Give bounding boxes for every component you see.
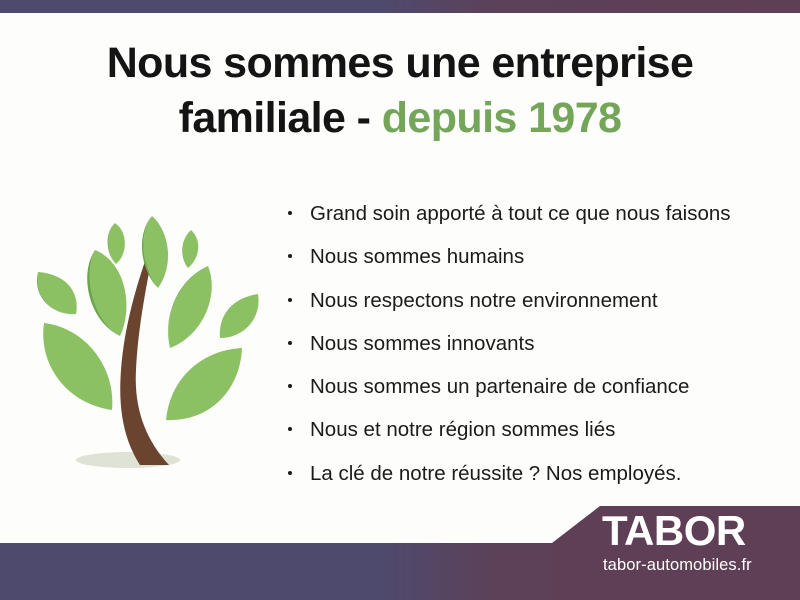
leaf-far-left <box>37 272 77 314</box>
heading-line-1: Nous sommes une entreprise <box>0 36 800 91</box>
bullet-dot-icon <box>288 384 292 388</box>
leaf-upper-left-small <box>108 223 125 264</box>
list-item: La clé de notre réussite ? Nos employés. <box>286 452 786 495</box>
list-item: Nous sommes humains <box>286 235 786 278</box>
slide-canvas: Nous sommes une entreprise familiale - d… <box>0 0 800 600</box>
bullet-dot-icon <box>288 471 292 475</box>
bullet-dot-icon <box>288 211 292 215</box>
list-item: Nous et notre région sommes liés <box>286 408 786 451</box>
bullet-dot-icon <box>288 341 292 345</box>
leaf-far-right <box>220 294 259 338</box>
slide-heading: Nous sommes une entreprise familiale - d… <box>0 36 800 146</box>
list-item: Grand soin apporté à tout ce que nous fa… <box>286 192 786 235</box>
value-bullet-list: Grand soin apporté à tout ce que nous fa… <box>286 192 786 495</box>
list-item-label: La clé de notre réussite ? Nos employés. <box>310 462 681 485</box>
list-item-label: Nous sommes innovants <box>310 332 534 355</box>
heading-line-2-accent: depuis 1978 <box>382 94 622 142</box>
list-item-label: Nous et notre région sommes liés <box>310 418 615 441</box>
list-item: Nous sommes un partenaire de confiance <box>286 365 786 408</box>
leaf-right-mid <box>168 266 212 348</box>
list-item: Nous sommes innovants <box>286 322 786 365</box>
bullet-dot-icon <box>288 298 292 302</box>
leaf-left-mid <box>87 250 126 336</box>
top-accent-band <box>0 0 800 13</box>
tree-trunk <box>120 250 169 465</box>
brand-logo-plaque: TABOR tabor-automobiles.fr <box>552 506 800 600</box>
heading-line-2: familiale - depuis 1978 <box>0 91 800 146</box>
bullet-dot-icon <box>288 254 292 258</box>
list-item-label: Grand soin apporté à tout ce que nous fa… <box>310 202 731 225</box>
leaf-upper-right-small <box>182 230 198 268</box>
tree-illustration <box>24 188 274 478</box>
list-item-label: Nous sommes un partenaire de confiance <box>310 375 689 398</box>
brand-website-url: tabor-automobiles.fr <box>603 556 752 575</box>
leaf-lower-right <box>166 348 242 420</box>
brand-wordmark: TABOR <box>602 510 746 552</box>
list-item-label: Nous sommes humains <box>310 245 524 268</box>
list-item-label: Nous respectons notre environnement <box>310 289 658 312</box>
leaf-lower-left <box>43 323 112 410</box>
bullet-dot-icon <box>288 427 292 431</box>
heading-line-2-plain: familiale - <box>179 94 371 142</box>
list-item: Nous respectons notre environnement <box>286 279 786 322</box>
